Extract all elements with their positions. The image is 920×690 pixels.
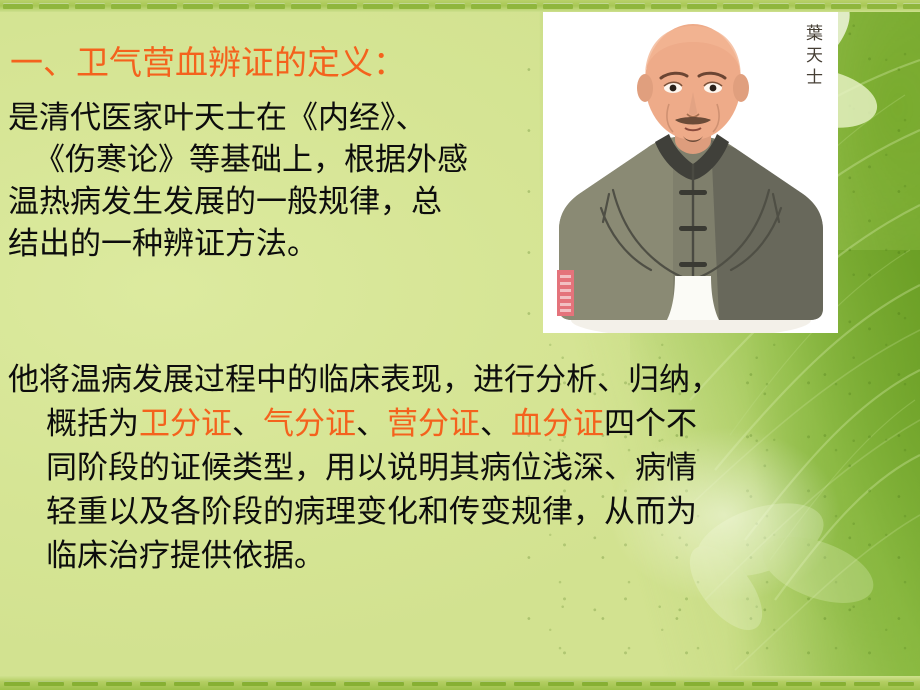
filmstrip-bottom-perforations: [0, 676, 920, 690]
body-line-4: 轻重以及各阶段的病理变化和传变规律，从而为: [8, 490, 858, 534]
term-qifenzheng: 气分证: [263, 406, 356, 442]
body-line-2: 概括为卫分证、气分证、营分证、血分证四个不: [8, 402, 858, 446]
body-line-2-suffix: 四个不: [604, 406, 697, 442]
body-line-3: 同阶段的证候类型，用以说明其病位浅深、病情: [8, 446, 858, 490]
term-separator-3: 、: [480, 406, 511, 442]
filmstrip-bottom: [0, 676, 920, 690]
slide-root: 葉天士 一、卫气营血辨证的定义： 是清代医家叶天士在《内经》、 《伤寒论》等基础…: [0, 0, 920, 690]
body-line-1: 他将温病发展过程中的临床表现，进行分析、归纳，: [8, 358, 858, 402]
body-line-5: 临床治疗提供依据。: [8, 534, 858, 578]
filmstrip-top: [0, 0, 920, 12]
definition-paragraph: 是清代医家叶天士在《内经》、 《伤寒论》等基础上，根据外感 温热病发生发展的一般…: [8, 98, 536, 265]
body-line-2-prefix: 概括为: [46, 406, 139, 442]
term-separator-2: 、: [356, 406, 387, 442]
definition-line-2: 《伤寒论》等基础上，根据外感: [8, 140, 536, 182]
definition-line-3: 温热病发生发展的一般规律，总: [8, 182, 536, 224]
term-yingfenzheng: 营分证: [387, 406, 480, 442]
slide-content: 一、卫气营血辨证的定义： 是清代医家叶天士在《内经》、 《伤寒论》等基础上，根据…: [0, 0, 920, 690]
term-xuefenzheng: 血分证: [511, 406, 604, 442]
page-title: 一、卫气营血辨证的定义：: [10, 44, 406, 83]
body-paragraph: 他将温病发展过程中的临床表现，进行分析、归纳， 概括为卫分证、气分证、营分证、血…: [8, 358, 858, 578]
definition-line-4: 结出的一种辨证方法。: [8, 224, 536, 266]
term-separator-1: 、: [232, 406, 263, 442]
term-weifenzheng: 卫分证: [139, 406, 232, 442]
definition-line-1: 是清代医家叶天士在《内经》、: [8, 98, 536, 140]
filmstrip-top-perforations: [0, 0, 920, 12]
